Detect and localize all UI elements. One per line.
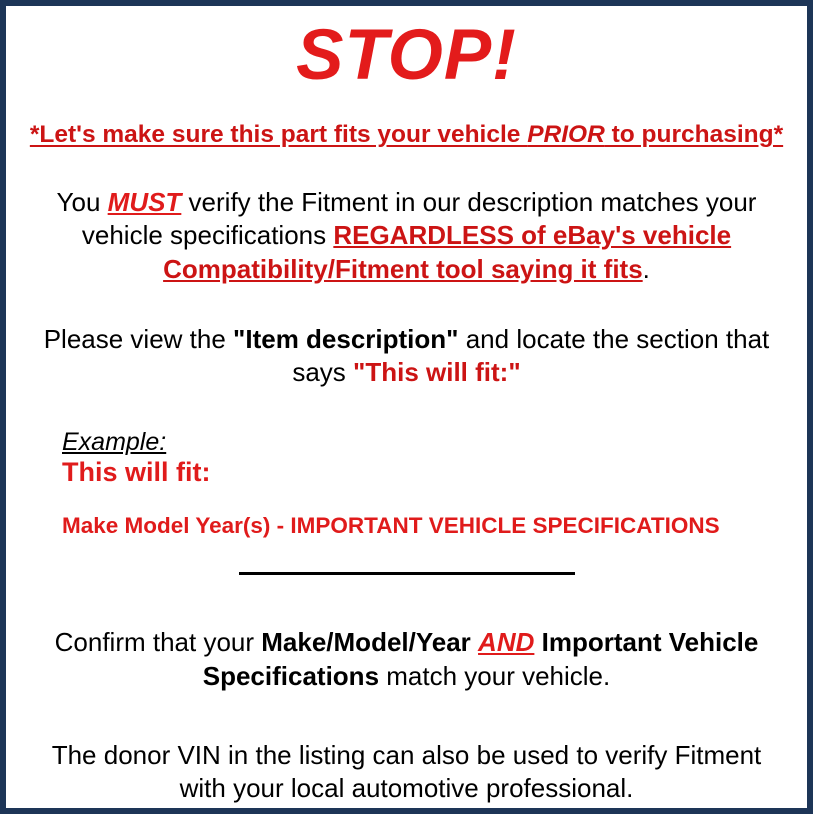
this-will-fit-label: "This will fit:" xyxy=(353,357,521,387)
fitment-notice-card: STOP! *Let's make sure this part fits yo… xyxy=(0,0,813,814)
confirm-seg5 xyxy=(534,627,541,657)
example-heading: Example: xyxy=(62,428,166,456)
tagline: *Let's make sure this part fits your veh… xyxy=(14,121,799,149)
divider-row xyxy=(14,564,799,582)
make-model-year-label: Make/Model/Year xyxy=(261,627,471,657)
tagline-emphasis: PRIOR xyxy=(527,121,605,148)
item-description-label: "Item description" xyxy=(233,324,458,354)
donor-vin-paragraph: The donor VIN in the listing can also be… xyxy=(14,739,799,806)
must-seg5: . xyxy=(643,254,650,284)
must-keyword: MUST xyxy=(108,187,182,217)
tagline-before: *Let's make sure this part fits your veh… xyxy=(30,121,527,148)
confirm-seg7: match your vehicle. xyxy=(379,661,610,691)
notice-content: STOP! *Let's make sure this part fits yo… xyxy=(6,20,807,814)
confirm-seg3 xyxy=(471,627,478,657)
item-description-paragraph: Please view the "Item description" and l… xyxy=(14,323,799,390)
please-seg1: Please view the xyxy=(44,324,233,354)
page-title: STOP! xyxy=(14,20,799,91)
must-verify-paragraph: You MUST verify the Fitment in our descr… xyxy=(14,186,799,286)
example-block: Example: This will fit: Make Model Year(… xyxy=(14,428,799,539)
example-fit-header: This will fit: xyxy=(62,457,799,488)
confirm-paragraph: Confirm that your Make/Model/Year AND Im… xyxy=(14,626,799,693)
confirm-seg1: Confirm that your xyxy=(55,627,262,657)
horizontal-divider xyxy=(239,572,575,575)
tagline-after: to purchasing* xyxy=(605,121,783,148)
must-seg1: You xyxy=(57,187,108,217)
example-spec-line: Make Model Year(s) - IMPORTANT VEHICLE S… xyxy=(62,513,799,539)
and-keyword: AND xyxy=(478,627,534,657)
